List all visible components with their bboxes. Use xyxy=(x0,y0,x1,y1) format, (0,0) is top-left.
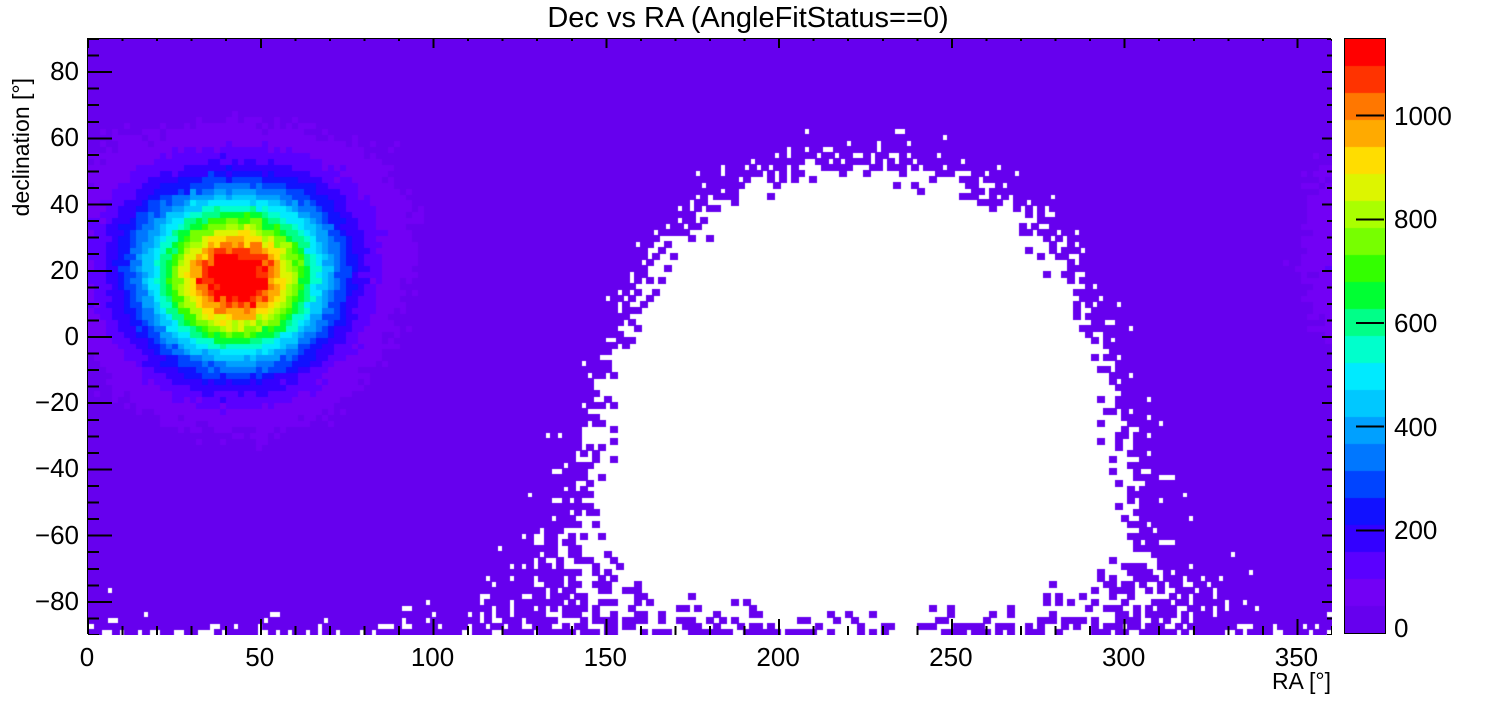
x-tick-label: 300 xyxy=(1102,644,1145,670)
chart-title: Dec vs RA (AngleFitStatus==0) xyxy=(0,2,1496,34)
y-tick-label: 60 xyxy=(50,124,79,150)
x-tick-label: 200 xyxy=(756,644,799,670)
y-tick-label: 0 xyxy=(65,323,79,349)
y-tick-label: −60 xyxy=(35,522,79,548)
y-tick-label: −20 xyxy=(35,389,79,415)
z-tick-label: 800 xyxy=(1394,206,1437,232)
y-tick-label: −40 xyxy=(35,455,79,481)
x-tick-label: 0 xyxy=(80,644,94,670)
x-tick-label: 150 xyxy=(584,644,627,670)
y-tick-label: 80 xyxy=(50,58,79,84)
color-scale-title-wrap: count xyxy=(1440,40,1470,200)
x-tick-label: 350 xyxy=(1275,644,1318,670)
y-tick-label: 20 xyxy=(50,257,79,283)
y-axis-title-wrap: declination [°] xyxy=(0,38,34,288)
z-tick-label: 0 xyxy=(1394,615,1408,641)
z-tick-label: 200 xyxy=(1394,517,1437,543)
y-axis-title: declination [°] xyxy=(8,78,35,216)
color-scale-bar xyxy=(1344,38,1386,634)
z-tick-label: 400 xyxy=(1394,414,1437,440)
plot-frame xyxy=(87,38,1331,634)
x-tick-label: 250 xyxy=(929,644,972,670)
color-scale-gradient xyxy=(1345,39,1385,633)
y-tick-label: −80 xyxy=(35,588,79,614)
x-axis-title: RA [°] xyxy=(1272,668,1331,695)
z-tick-label: 600 xyxy=(1394,310,1437,336)
heatmap-image xyxy=(88,39,1332,635)
y-tick-label: 40 xyxy=(50,191,79,217)
plot-canvas-root: Dec vs RA (AngleFitStatus==0) 0501001502… xyxy=(0,0,1496,722)
x-tick-label: 100 xyxy=(411,644,454,670)
x-tick-label: 50 xyxy=(245,644,274,670)
